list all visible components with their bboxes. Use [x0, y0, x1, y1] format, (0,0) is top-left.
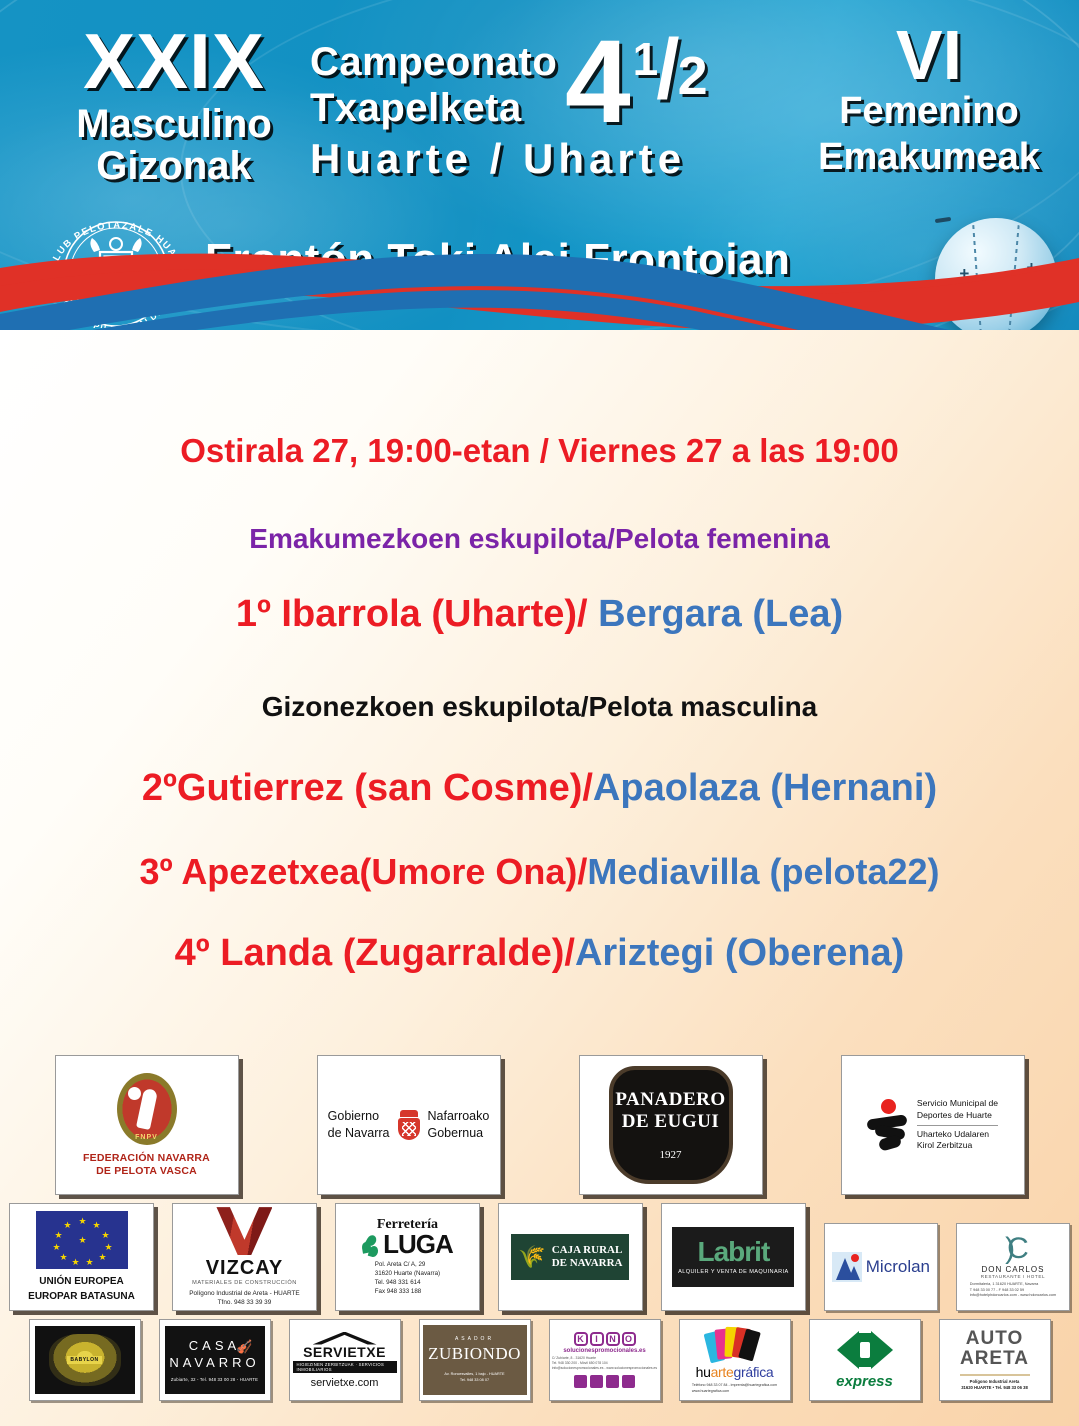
gobierno-text-es: Gobierno de Navarra [328, 1108, 390, 1142]
hg-part-c: gráfica [734, 1364, 774, 1380]
kino-letter-i: I [590, 1332, 604, 1346]
match-row-3: 3º Apezetxea(Umore Ona)/Mediavilla (pelo… [0, 851, 1079, 892]
sponsor-logo-vizcay[interactable]: VIZCAY MATERIALES DE CONSTRUCCIÓN Polígo… [172, 1203, 317, 1311]
don-carlos-tagline: RESTAURANTE I HOTEL [981, 1274, 1045, 1279]
feminine-label-eu: Emakumeak [797, 138, 1061, 176]
zubiondo-prefix: ASADOR [455, 1336, 494, 1342]
hg-part-a: hu [696, 1364, 711, 1380]
feminine-label-es: Femenino [797, 92, 1061, 130]
fnpv-acronym: FNPV [135, 1134, 158, 1141]
sponsor-logo-servietxe[interactable]: SERVIETXE HIGIEZINEN ZERBITZUAK · SERVIC… [289, 1319, 401, 1401]
caja-rural-line1: CAJA RURAL [552, 1244, 623, 1257]
deportes-eu-line2: Kirol Zerbitzua [917, 1140, 998, 1152]
event-datetime: Ostirala 27, 19:00-etan / Viernes 27 a l… [0, 432, 1079, 470]
fnpv-ball-icon [128, 1087, 141, 1100]
labrit-tagline: ALQUILER Y VENTA DE MAQUINARIA [678, 1269, 789, 1275]
championship-title-block: Campeonato Txapelketa Huarte / Uharte [310, 42, 790, 180]
match-1-number: 1º [236, 593, 282, 635]
huartegrafica-name: huartegráfica [696, 1364, 774, 1380]
gobierno-eu-line2: Gobernua [428, 1125, 490, 1142]
modality-fraction: 1 / 2 [633, 36, 708, 103]
auto-areta-address: Polígono Industrial Areta 31620 HUARTE •… [961, 1379, 1028, 1392]
casa-navarro-line1: CASA [189, 1338, 240, 1353]
sponsors-section: FNPV FEDERACIÓN NAVARRA DE PELOTA VASCA … [0, 1055, 1079, 1401]
caja-rural-text: CAJA RURAL DE NAVARRA [552, 1244, 623, 1270]
fnpv-name-line2: DE PELOTA VASCA [96, 1165, 197, 1177]
vizcay-tagline: MATERIALES DE CONSTRUCCIÓN [192, 1280, 297, 1286]
sponsor-logo-carrefour-express[interactable]: express [809, 1319, 921, 1401]
babylon-name: BABYLON [67, 1356, 101, 1364]
auto-areta-line1: AUTO [966, 1329, 1023, 1349]
microlan-peak-2 [848, 1266, 860, 1280]
carrefour-center-c [856, 1333, 874, 1367]
sponsor-logo-ferreteria-luga[interactable]: Ferretería LUGA Pol. Areta C/ A, 29 3162… [335, 1203, 480, 1311]
match-3-away: Mediavilla (pelota22) [587, 851, 939, 892]
kino-website: solucionespromocionales.es [563, 1348, 645, 1354]
deportes-lockup: Servicio Municipal de Deportes de Huarte… [861, 1098, 1004, 1151]
labrit-lockup: Labrit ALQUILER Y VENTA DE MAQUINARIA [672, 1227, 794, 1287]
modality-number: 4 1 / 2 [565, 28, 708, 137]
deportes-es-line1: Servicio Municipal de [917, 1098, 998, 1110]
athlete-stroke-3 [878, 1134, 902, 1152]
luga-name: LUGA [383, 1233, 453, 1256]
paper-fan-icon [707, 1326, 763, 1360]
sponsor-logo-auto-areta[interactable]: AUTO ARETA Polígono Industrial Areta 316… [939, 1319, 1051, 1401]
deportes-es-line2: Deportes de Huarte [917, 1110, 998, 1122]
zubiondo-name: ZUBIONDO [428, 1344, 521, 1364]
kino-address-line3: info@solucionespromocionales.es - www.so… [552, 1366, 657, 1371]
sponsor-logo-zubiondo[interactable]: ASADOR ZUBIONDO Av. Roncesvalles, 1 bajo… [419, 1319, 531, 1401]
championship-label-es: Campeonato [310, 42, 790, 82]
sponsor-logo-fnpv[interactable]: FNPV FEDERACIÓN NAVARRA DE PELOTA VASCA [55, 1055, 239, 1195]
zubiondo-address: Av. Roncesvalles, 1 bajo - HUARTE Tel. 9… [444, 1372, 504, 1383]
hg-contact-line1: Teléfono 948 33 07 84 - imprenta@huarteg… [692, 1383, 777, 1388]
sponsor-logo-kino[interactable]: K I N O solucionespromocionales.es C/ Zu… [549, 1319, 661, 1401]
sponsor-logo-huartegrafica[interactable]: huartegráfica Teléfono 948 33 07 84 - im… [679, 1319, 791, 1401]
match-3-home: Apezetxea(Umore Ona)/ [181, 851, 587, 892]
town-name: Huarte / Uharte [310, 138, 790, 180]
sponsor-row-2: ★ ★ ★ ★ ★ ★ ★ ★ ★ ★ ★ ★ UNIÓN EUROPEA EU… [0, 1203, 1079, 1311]
masculine-label-eu: Gizonak [44, 146, 304, 186]
huartegrafica-contact: Teléfono 948 33 07 84 - imprenta@huarteg… [692, 1383, 777, 1394]
match-4-number: 4º [175, 932, 221, 974]
masculine-label-es: Masculino [44, 104, 304, 144]
babylon-ornament: BABYLON [49, 1334, 121, 1386]
vizcay-v-icon [216, 1207, 272, 1255]
sponsor-logo-casa-navarro[interactable]: 🎻 CASA NAVARRO Zubiarte, 32 - Tel. 948 3… [159, 1319, 271, 1401]
kino-letter-o: O [622, 1332, 636, 1346]
luga-address-line4: Fax 948 333 188 [375, 1288, 440, 1297]
auto-areta-address-line1: Polígono Industrial Areta [961, 1379, 1028, 1385]
match-2-home: Gutierrez (san Cosme)/ [177, 767, 593, 809]
navarra-shield-icon [397, 1110, 421, 1140]
match-1-home: Ibarrola (Uharte)/ [281, 593, 587, 635]
wheat-icon: 🌾 [518, 1246, 545, 1268]
fraction-numerator: 1 [633, 36, 659, 82]
ball-mark-dash [935, 217, 951, 223]
category-women: Emakumezkoen eskupilota/Pelota femenina [0, 523, 1079, 555]
panadero-badge-icon: PANADERO DE EUGUI 1927 [609, 1066, 733, 1184]
labrit-name: Labrit [697, 1239, 769, 1264]
fraction-denominator: 2 [678, 49, 708, 103]
panadero-line1: PANADERO [615, 1089, 725, 1111]
match-3-number: 3º [139, 851, 181, 892]
carrefour-icon [837, 1331, 893, 1369]
hg-contact-line2: www.huartegrafica.com [692, 1389, 777, 1394]
carrefour-right-chevron [871, 1331, 893, 1369]
servietxe-tagline: HIGIEZINEN ZERBITZUAK · SERVICIOS INMOBI… [293, 1361, 397, 1373]
panadero-line2: DE EUGUI [622, 1111, 719, 1133]
zubiondo-lockup: ASADOR ZUBIONDO Av. Roncesvalles, 1 bajo… [423, 1325, 527, 1395]
zubiondo-address-line2: Tel. 948 33 08 07 [444, 1378, 504, 1384]
casa-navarro-address: Zubiarte, 32 - Tel. 948 33 00 28 - HUART… [171, 1377, 258, 1382]
sponsor-logo-panadero-eugui[interactable]: PANADERO DE EUGUI 1927 [579, 1055, 763, 1195]
championship-label-eu: Txapelketa [310, 88, 790, 128]
fnpv-emblem-icon: FNPV [117, 1073, 177, 1145]
match-row-2: 2ºGutierrez (san Cosme)/Apaolaza (Hernan… [0, 767, 1079, 811]
deportes-text: Servicio Municipal de Deportes de Huarte… [917, 1098, 998, 1151]
hg-part-b: arte [711, 1364, 734, 1380]
babylon-crest-icon: BABYLON [35, 1326, 135, 1394]
match-1-away: Bergara (Lea) [588, 593, 844, 635]
kino-product-icons [574, 1375, 635, 1388]
casa-navarro-line2: NAVARRO [169, 1355, 259, 1370]
kino-address: C/ Zubiarte, 8 - 31620 Huarte Tel. 948 3… [552, 1356, 657, 1371]
sponsor-row-3: BABYLON 🎻 CASA NAVARRO Zubiarte, 32 - Te… [0, 1319, 1079, 1401]
luga-wordmark: LUGA [362, 1233, 453, 1256]
auto-areta-address-line2: 31620 HUARTE • Tel. 948 33 06 38 [961, 1385, 1028, 1391]
microlan-lockup: Microlan [832, 1252, 930, 1282]
casa-navarro-lockup: 🎻 CASA NAVARRO Zubiarte, 32 - Tel. 948 3… [165, 1326, 265, 1394]
match-row-1: 1º Ibarrola (Uharte)/ Bergara (Lea) [0, 593, 1079, 637]
violin-icon: 🎻 [236, 1339, 252, 1355]
carrefour-express-label: express [836, 1373, 893, 1390]
auto-areta-line2: ARETA [960, 1349, 1029, 1369]
microlan-mountain-icon [832, 1252, 862, 1282]
servietxe-name: SERVIETXE [303, 1344, 386, 1360]
kino-wordmark-icon: K I N O [574, 1332, 636, 1346]
sponsor-logo-union-europea[interactable]: ★ ★ ★ ★ ★ ★ ★ ★ ★ ★ ★ ★ UNIÓN EUROPEA EU… [9, 1203, 154, 1311]
edition-number-masculine: XXIX [44, 22, 304, 100]
luga-address: Pol. Areta C/ A, 29 31620 Huarte (Navarr… [375, 1261, 440, 1297]
fnpv-name-line1: FEDERACIÓN NAVARRA [83, 1152, 210, 1164]
gobierno-lockup: Gobierno de Navarra Nafarroako Gobernua [328, 1108, 490, 1142]
program-section: Ostirala 27, 19:00-etan / Viernes 27 a l… [0, 420, 1079, 976]
caja-rural-lockup: 🌾 CAJA RURAL DE NAVARRA [511, 1234, 629, 1280]
microlan-sun [851, 1254, 859, 1262]
sponsor-logo-babylon[interactable]: BABYLON [29, 1319, 141, 1401]
gobierno-es-line2: de Navarra [328, 1125, 390, 1142]
gobierno-es-line1: Gobierno [328, 1108, 390, 1125]
caja-rural-line2: DE NAVARRA [552, 1257, 623, 1270]
gobierno-eu-line1: Nafarroako [428, 1108, 490, 1125]
microlan-name: Microlan [866, 1257, 930, 1277]
don-carlos-name: DON CARLOS [982, 1265, 1045, 1274]
servietxe-lockup: SERVIETXE HIGIEZINEN ZERBITZUAK · SERVIC… [293, 1328, 397, 1392]
panadero-year: 1927 [660, 1149, 682, 1161]
eu-name-line2: EUROPAR BATASUNA [28, 1290, 135, 1304]
sponsor-logo-don-carlos[interactable]: )C DON CARLOS RESTAURANTE I HOTEL Dormit… [956, 1223, 1070, 1311]
fraction-slash: / [656, 36, 679, 103]
gobierno-text-eu: Nafarroako Gobernua [428, 1108, 490, 1142]
edition-number-feminine: VI [797, 20, 1061, 90]
category-men: Gizonezkoen eskupilota/Pelota masculina [0, 691, 1079, 723]
vizcay-address-line1: Polígono Industrial de Areta - HUARTE [189, 1290, 299, 1298]
luga-address-line1: Pol. Areta C/ A, 29 [375, 1261, 440, 1270]
shield-body [398, 1118, 420, 1140]
modality-whole: 4 [565, 28, 631, 137]
athlete-figure-icon [867, 1099, 909, 1151]
don-carlos-address-line3: info@hotelphdoncarlos.com - www.hdoncarl… [970, 1293, 1056, 1299]
luga-leaves-icon [362, 1235, 380, 1257]
sponsor-logo-labrit[interactable]: Labrit ALQUILER Y VENTA DE MAQUINARIA [661, 1203, 806, 1311]
deportes-eu-line1: Uharteko Udalaren [917, 1129, 998, 1141]
don-carlos-monogram-icon: )C [1005, 1235, 1021, 1262]
eu-name-line1: UNIÓN EUROPEA [39, 1275, 123, 1289]
vizcay-name: VIZCAY [206, 1257, 284, 1280]
sponsor-logo-microlan[interactable]: Microlan [824, 1223, 938, 1311]
servietxe-website: servietxe.com [311, 1377, 379, 1389]
luga-address-line2: 31620 Huarte (Navarra) [375, 1270, 440, 1279]
match-2-number: 2º [142, 767, 177, 809]
athlete-head [881, 1099, 896, 1114]
sponsor-row-1: FNPV FEDERACIÓN NAVARRA DE PELOTA VASCA … [0, 1055, 1079, 1195]
match-row-4: 4º Landa (Zugarralde)/Ariztegi (Oberena) [0, 932, 1079, 976]
kino-letter-k: K [574, 1332, 588, 1346]
don-carlos-address: Dormitaleria, 1 31620 HUARTE, Navarra T … [970, 1282, 1056, 1299]
eu-flag-icon: ★ ★ ★ ★ ★ ★ ★ ★ ★ ★ ★ ★ [36, 1211, 128, 1269]
match-2-away: Apaolaza (Hernani) [593, 767, 937, 809]
auto-areta-divider [960, 1374, 1030, 1376]
shield-crown [400, 1110, 418, 1117]
vizcay-address-line2: Tfno. 948 33 39 39 [218, 1299, 272, 1307]
deportes-divider [917, 1125, 998, 1126]
edition-masculine-block: XXIX Masculino Gizonak [44, 22, 304, 186]
kino-letter-n: N [606, 1332, 620, 1346]
match-4-away: Ariztegi (Oberena) [575, 932, 904, 974]
sponsor-logo-deportes-huarte[interactable]: Servicio Municipal de Deportes de Huarte… [841, 1055, 1025, 1195]
edition-feminine-block: VI Femenino Emakumeak [797, 20, 1061, 184]
sponsor-logo-gobierno-navarra[interactable]: Gobierno de Navarra Nafarroako Gobernua [317, 1055, 501, 1195]
sponsor-logo-caja-rural[interactable]: 🌾 CAJA RURAL DE NAVARRA [498, 1203, 643, 1311]
match-4-home: Landa (Zugarralde)/ [220, 932, 575, 974]
luga-address-line3: Tel. 948 331 614 [375, 1279, 440, 1288]
